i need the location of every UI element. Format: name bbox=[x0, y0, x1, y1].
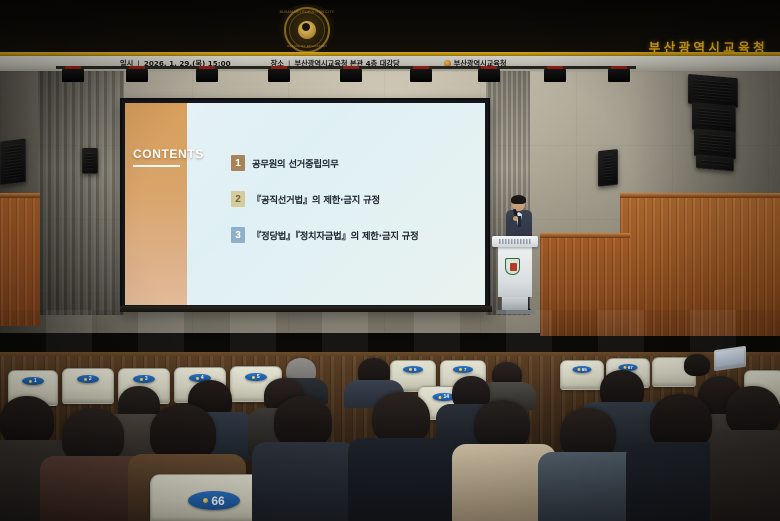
audience-head-front-6 bbox=[474, 400, 530, 450]
overhead-stage-light-9 bbox=[608, 69, 630, 82]
seat-number-badge: 65 bbox=[573, 366, 592, 373]
badge-dot-icon bbox=[203, 498, 208, 503]
emblem-core-mark bbox=[298, 21, 316, 39]
slide-item-number-3: 3 bbox=[231, 227, 245, 243]
laptop-screen bbox=[716, 348, 744, 367]
seat-number: 5 bbox=[257, 374, 260, 380]
lectern-nameplate bbox=[499, 239, 531, 244]
speaker-grill-center-right bbox=[603, 154, 613, 181]
overhead-stage-light-4 bbox=[268, 69, 290, 82]
badge-dot-icon bbox=[84, 378, 87, 381]
badge-dot-icon bbox=[439, 396, 442, 399]
presentation-slide: CONTENTS 1 공무원의 선거중립의무 2 『공직선거법』의 제한·금지 … bbox=[125, 103, 485, 305]
seat-number-badge-66: 66 bbox=[188, 491, 240, 510]
seat-number: 2 bbox=[89, 376, 92, 382]
wood-wainscot-left bbox=[0, 196, 40, 326]
audience-torso-front-5 bbox=[348, 438, 456, 521]
seat-number-badge: 5 bbox=[245, 373, 267, 381]
slide-list-item-1: 1 공무원의 선거중립의무 bbox=[231, 155, 485, 171]
emblem-bottom-text: OFFICE OF EDUCATION bbox=[278, 44, 336, 48]
overhead-stage-light-3 bbox=[196, 69, 218, 82]
slide-item-number-1: 1 bbox=[231, 155, 245, 171]
wood-trim-right-lower bbox=[540, 233, 630, 238]
seat-number: 6 bbox=[414, 367, 417, 372]
wall-speaker-left bbox=[0, 138, 26, 185]
overhead-stage-light-7 bbox=[478, 69, 500, 82]
speaker-grill-r1 bbox=[693, 79, 733, 102]
wall-speaker-center-right bbox=[598, 149, 618, 187]
lectern bbox=[492, 236, 538, 314]
slide-item-text-1: 공무원의 선거중립의무 bbox=[252, 156, 339, 170]
audience-torso-front-9 bbox=[710, 430, 780, 521]
speaker-grill-r3 bbox=[699, 134, 731, 155]
stage-screen-shadow bbox=[120, 306, 492, 312]
seat-number: 14 bbox=[443, 394, 449, 400]
speaker-grill-r2 bbox=[697, 108, 731, 129]
badge-dot-icon bbox=[196, 377, 199, 380]
badge-dot-icon bbox=[459, 368, 462, 371]
seat-number: 1 bbox=[34, 378, 37, 384]
overhead-stage-light-2 bbox=[126, 69, 148, 82]
wood-trim-right bbox=[620, 193, 780, 198]
lectern-top-desk bbox=[492, 236, 538, 247]
seat-number: 3 bbox=[145, 376, 148, 382]
auditorium-presentation-photo: BUSAN METROPOLITAN CITY OFFICE OF EDUCAT… bbox=[0, 0, 780, 521]
seat-back-2[interactable]: 2 bbox=[62, 368, 114, 404]
badge-dot-icon bbox=[577, 368, 580, 371]
seat-back-right-1[interactable]: 65 bbox=[560, 360, 604, 390]
audience-head-front-1 bbox=[0, 396, 54, 446]
seat-number: 67 bbox=[628, 365, 633, 370]
seat-number-66: 66 bbox=[211, 494, 224, 508]
emblem-top-text: BUSAN METROPOLITAN CITY bbox=[278, 10, 336, 14]
seat-number-badge: 3 bbox=[133, 375, 155, 383]
audience-head-front-5 bbox=[372, 392, 430, 444]
wood-trim-left bbox=[0, 193, 40, 198]
seat-number-badge: 6 bbox=[403, 366, 423, 373]
stage-floor bbox=[0, 310, 780, 358]
audience-head-front-4 bbox=[274, 396, 332, 448]
stage-curtain-left bbox=[38, 71, 124, 315]
slide-list-item-3: 3 『정당법』『정치자금법』의 제한·금지 규정 bbox=[231, 227, 485, 243]
badge-dot-icon bbox=[409, 368, 412, 371]
seat-number: 65 bbox=[582, 367, 587, 372]
audience-head-front-9 bbox=[726, 386, 780, 436]
overhead-stage-light-6 bbox=[410, 69, 432, 82]
overhead-stage-light-1 bbox=[62, 69, 84, 82]
curtain-left-shade bbox=[38, 71, 124, 315]
seat-number-badge: 2 bbox=[77, 375, 99, 383]
overhead-stage-light-5 bbox=[340, 69, 362, 82]
presenter-hair bbox=[511, 195, 526, 204]
presenter-hand bbox=[513, 216, 518, 221]
wall-speaker-left-small bbox=[82, 148, 98, 174]
badge-dot-icon bbox=[140, 378, 143, 381]
slide-item-text-3: 『정당법』『정치자금법』의 제한·금지 규정 bbox=[252, 228, 418, 242]
lectern-base bbox=[502, 297, 528, 311]
seat-number-badge: 1 bbox=[22, 377, 44, 385]
busan-office-of-education-emblem: BUSAN METROPOLITAN CITY OFFICE OF EDUCAT… bbox=[278, 4, 336, 54]
speaker-grill-r4 bbox=[701, 160, 729, 166]
slide-accent-panel: CONTENTS bbox=[125, 103, 187, 305]
slide-item-number-2: 2 bbox=[231, 191, 245, 207]
presenter-tie bbox=[518, 216, 521, 227]
seat-number: 7 bbox=[464, 367, 467, 372]
projection-screen: CONTENTS 1 공무원의 선거중립의무 2 『공직선거법』의 제한·금지 … bbox=[120, 98, 490, 310]
slide-list-item-2: 2 『공직선거법』의 제한·금지 규정 bbox=[231, 191, 485, 207]
seat-number-badge: 7 bbox=[453, 366, 473, 373]
overhead-stage-light-8 bbox=[544, 69, 566, 82]
speaker-grill-left bbox=[5, 144, 21, 180]
lectern-crest-emblem bbox=[505, 258, 520, 275]
badge-dot-icon bbox=[29, 380, 32, 383]
speaker-grill-left-small bbox=[87, 153, 93, 169]
slide-title-underline bbox=[133, 165, 180, 167]
audience-torso-front-4 bbox=[252, 442, 356, 521]
badge-dot-icon bbox=[252, 376, 255, 379]
slide-item-text-2: 『공직선거법』의 제한·금지 규정 bbox=[252, 192, 380, 206]
badge-dot-icon bbox=[623, 366, 626, 369]
audience-laptop bbox=[714, 346, 746, 371]
audience-head-back-4 bbox=[684, 354, 710, 376]
slide-contents-list: 1 공무원의 선거중립의무 2 『공직선거법』의 제한·금지 규정 3 『정당법… bbox=[187, 103, 485, 305]
